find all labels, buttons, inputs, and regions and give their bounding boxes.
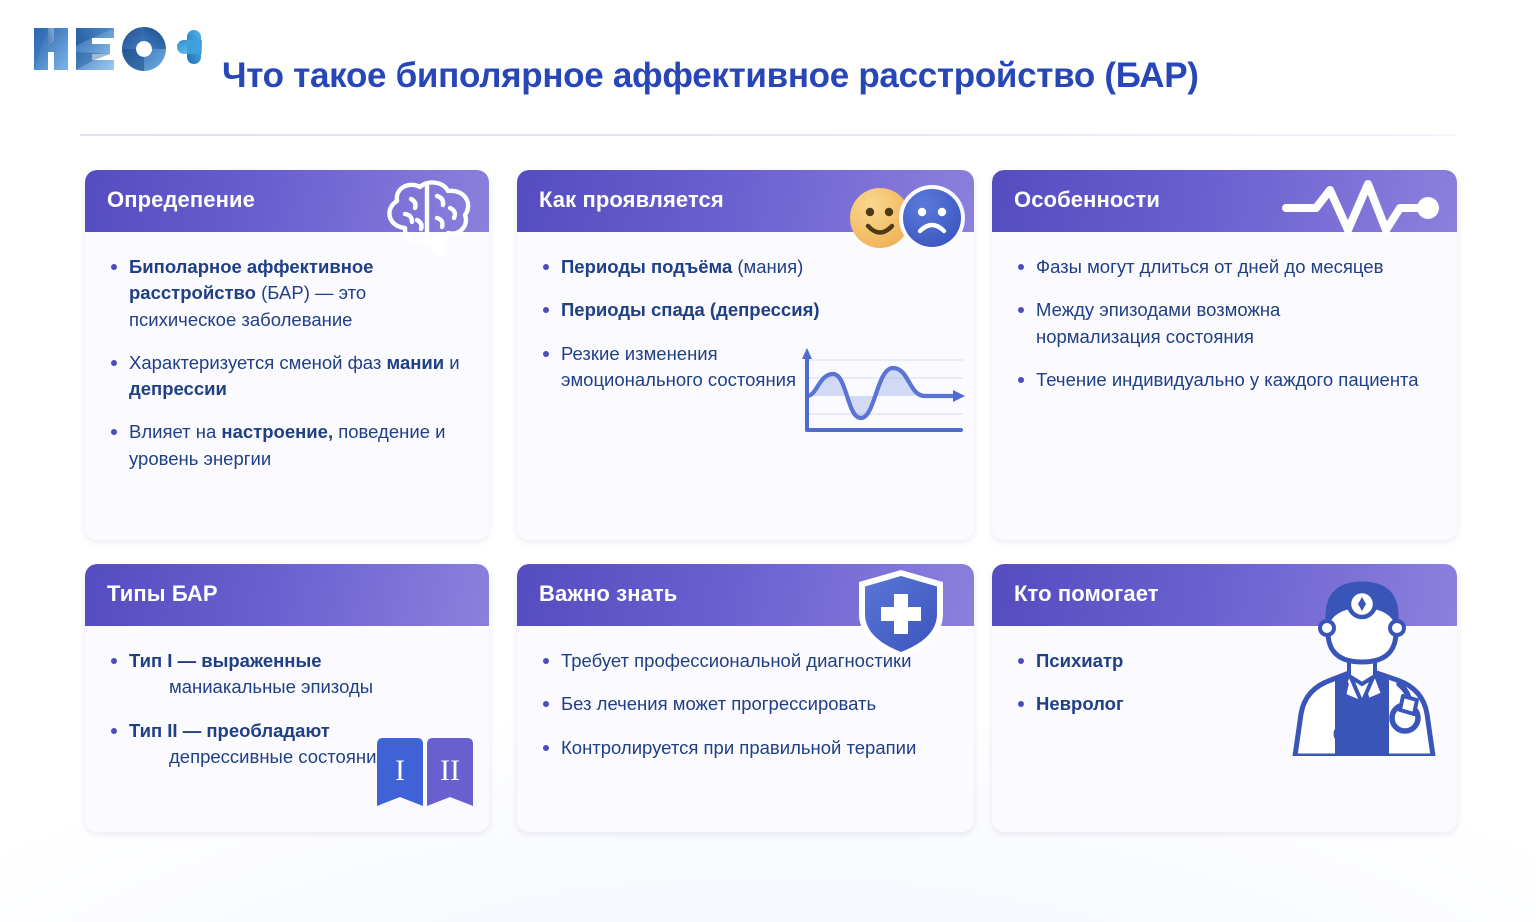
card-body-whohelps: Психиатр Невролог — [992, 626, 1457, 832]
page-title: Что такое биполярное аффективное расстро… — [222, 56, 1199, 96]
title-divider — [80, 134, 1456, 136]
bullet-text: (мания) — [732, 256, 803, 277]
card-definition[interactable]: Опредепение Биполарное аффективное расст… — [85, 170, 489, 540]
bullet-bold-text: Психиатр — [1036, 650, 1123, 671]
card-title: Опредепение — [107, 187, 255, 213]
list-item: Периоды подъёма (мания) — [539, 254, 950, 280]
card-body-symptoms: Периоды подъёма (мания) Периоды спада (д… — [517, 232, 974, 540]
card-body-important: Требует профессиональной диагностики Без… — [517, 626, 974, 832]
list-item: Тип I — выраженные маниакальные эпизоды — [107, 648, 465, 701]
bullet-text: Контролируется при правильной терапии — [561, 737, 916, 758]
bullet-text: Резкие изменения эмоционального состояни… — [561, 343, 796, 390]
bullet-bold-text: Периоды спада (депрессия) — [561, 299, 820, 320]
bullet-bold-text: настроение, — [221, 421, 333, 442]
card-title: Как проявляется — [539, 187, 724, 213]
card-title: Типы БАР — [107, 581, 218, 607]
card-header-definition: Опредепение — [85, 170, 489, 232]
bullet-list-important: Требует профессиональной диагностики Без… — [539, 648, 950, 761]
bullet-list-types: Тип I — выраженные маниакальные эпизоды … — [107, 648, 465, 770]
bullet-bold-text: мании — [387, 352, 445, 373]
card-header-important: Важно знать — [517, 564, 974, 626]
bullet-list-definition: Биполарное аффективное расстройство (БАР… — [107, 254, 465, 472]
neo-plus-logo[interactable] — [22, 18, 202, 80]
bullet-text: и — [444, 352, 459, 373]
card-header-whohelps: Кто помогает — [992, 564, 1457, 626]
bullet-subtext: маниакальные эпизоды — [129, 674, 465, 700]
list-item: Характеризуется сменой фаз мании и депре… — [107, 350, 465, 403]
bullet-text: Требует профессиональной диагностики — [561, 650, 911, 671]
list-item: Фазы могут длиться от дней до месяцев — [1014, 254, 1433, 280]
card-body-features: Фазы могут длиться от дней до месяцев Ме… — [992, 232, 1457, 540]
bullet-text: Без лечения может прогрессировать — [561, 693, 876, 714]
card-title: Кто помогает — [1014, 581, 1159, 607]
list-item: Влияет на настроение, поведение и уровен… — [107, 419, 465, 472]
list-item: Невролог — [1014, 691, 1433, 717]
card-body-definition: Биполарное аффективное расстройство (БАР… — [85, 232, 489, 540]
card-types[interactable]: Типы БАР Тип I — выраженные маниакальные… — [85, 564, 489, 832]
bullet-list-symptoms: Периоды подъёма (мания) Периоды спада (д… — [539, 254, 950, 393]
bullet-bold-text: Тип I — выраженные — [129, 650, 322, 671]
bullet-bold-text: Периоды подъёма — [561, 256, 732, 277]
bullet-bold-text: депрессии — [129, 378, 227, 399]
card-whohelps[interactable]: Кто помогает Психиатр Невролог — [992, 564, 1457, 832]
card-grid: Опредепение Биполарное аффективное расст… — [85, 170, 1457, 832]
bullet-bold-text: Невролог — [1036, 693, 1124, 714]
list-item: Требует профессиональной диагностики — [539, 648, 950, 674]
list-item: Между эпизодами возможна нормализация со… — [1014, 297, 1336, 350]
bullet-text: Характеризуется сменой фаз — [129, 352, 387, 373]
card-header-types: Типы БАР — [85, 564, 489, 626]
bullet-bold-text: Тип II — преобладают — [129, 720, 330, 741]
bullet-text: Фазы могут длиться от дней до месяцев — [1036, 256, 1383, 277]
card-title: Важно знать — [539, 581, 677, 607]
bullet-list-features: Фазы могут длиться от дней до месяцев Ме… — [1014, 254, 1433, 393]
list-item: Психиатр — [1014, 648, 1433, 674]
list-item: Периоды спада (депрессия) — [539, 297, 950, 323]
card-header-symptoms: Как проявляется — [517, 170, 974, 232]
list-item: Без лечения может прогрессировать — [539, 691, 950, 717]
page-header: Что такое биполярное аффективное расстро… — [0, 0, 1536, 135]
list-item: Резкие изменения эмоционального состояни… — [539, 341, 811, 394]
card-header-features: Особенности — [992, 170, 1457, 232]
list-item: Тип II — преобладают депрессивные состоя… — [107, 718, 465, 771]
bullet-text: Влияет на — [129, 421, 221, 442]
bullet-text: Течение индивидуально у каждого пациента — [1036, 369, 1419, 390]
bullet-subtext: депрессивные состояния — [129, 744, 465, 770]
card-title: Особенности — [1014, 187, 1160, 213]
list-item: Течение индивидуально у каждого пациента — [1014, 367, 1433, 393]
card-important[interactable]: Важно знать Требует профессиональной диа… — [517, 564, 974, 832]
bullet-text: Между эпизодами возможна нормализация со… — [1036, 299, 1280, 346]
card-features[interactable]: Особенности Фазы могут длиться от дней д… — [992, 170, 1457, 540]
list-item: Биполарное аффективное расстройство (БАР… — [107, 254, 465, 333]
bullet-list-whohelps: Психиатр Невролог — [1014, 648, 1433, 718]
list-item: Контролируется при правильной терапии — [539, 735, 950, 761]
card-body-types: Тип I — выраженные маниакальные эпизоды … — [85, 626, 489, 832]
card-symptoms[interactable]: Как проявляется Периоды подъёма (мания) … — [517, 170, 974, 540]
